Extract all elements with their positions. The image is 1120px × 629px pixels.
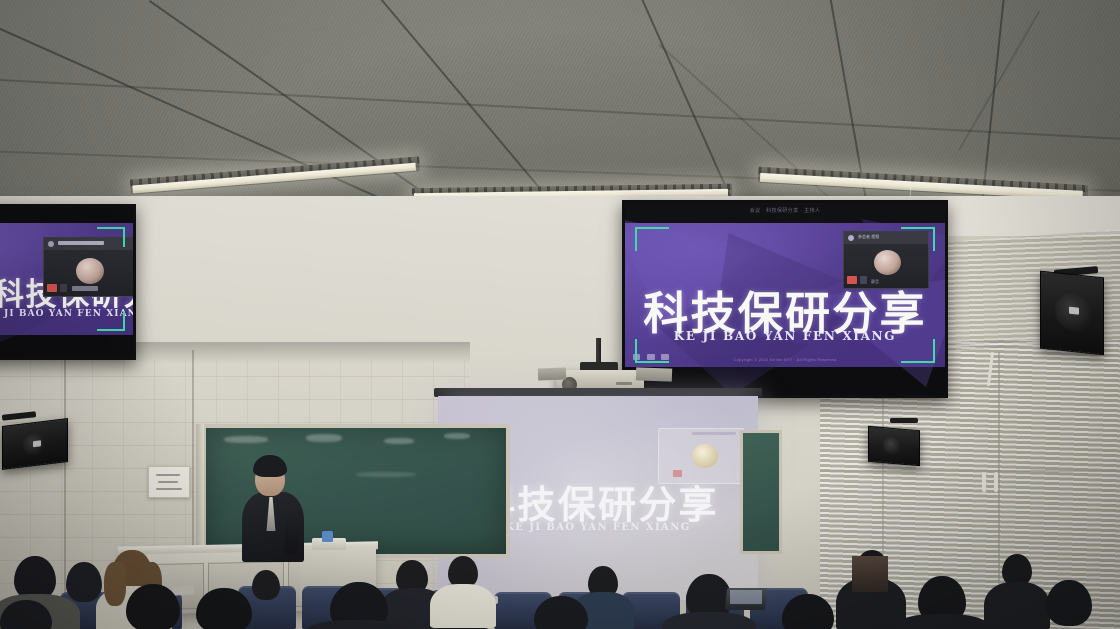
chair-writing-tablet[interactable] xyxy=(172,585,195,596)
pip-mute-label: 静音 xyxy=(871,279,879,285)
left-wall-speaker xyxy=(2,418,68,470)
left-tv-corner-bracket-br xyxy=(97,311,125,331)
left-tv-display[interactable]: 科技保研分享 KE JI BAO YAN FEN XIANG xyxy=(0,204,136,360)
right-wall-speaker-lower xyxy=(868,426,920,467)
speaker-badge xyxy=(1069,307,1079,315)
lecture-hall-screenshot: 科技保研分享 KE JI BAO YAN FEN XIANG 会议 · 科技保研… xyxy=(0,0,1120,629)
audience-head xyxy=(126,584,180,629)
pip-video-indicator[interactable] xyxy=(860,276,867,284)
right-tv-corner-bracket-tr xyxy=(901,227,935,251)
speaker-mount-arm xyxy=(890,418,918,423)
projection-pip-title-text xyxy=(692,432,736,435)
right-tv-slide-footer: Copyright © 2021 KeYan BYT · All Rights … xyxy=(625,357,945,362)
projector-label xyxy=(616,382,632,385)
audience-hair-long xyxy=(104,562,126,606)
audience-body xyxy=(894,614,990,629)
projector-mount-plate xyxy=(538,368,566,381)
speaker-cone xyxy=(883,436,901,456)
pip-caption xyxy=(72,286,98,291)
blackboard-left-edge xyxy=(196,424,204,552)
chalk-smudge xyxy=(306,434,342,442)
equipment-rack xyxy=(852,556,888,592)
cabinet-handle[interactable] xyxy=(994,472,998,492)
right-tv-corner-bracket-bl xyxy=(635,339,669,363)
projection-pip-avatar xyxy=(692,444,718,468)
right-wall-speaker-upper xyxy=(1040,271,1104,356)
right-tv-screen: 会议 · 科技保研分享 · 主持人 科技保研分享 KE JI BAO YAN F… xyxy=(625,203,945,395)
left-tv-corner-bracket-tr xyxy=(97,227,125,247)
audience-head xyxy=(252,570,280,600)
left-tv-screen: 科技保研分享 KE JI BAO YAN FEN XIANG xyxy=(0,207,133,357)
right-tv-status-text: 会议 · 科技保研分享 · 主持人 xyxy=(625,207,945,214)
pip-user-icon xyxy=(848,235,854,241)
audience-body-white-shirt xyxy=(430,584,496,628)
pip-video-indicator[interactable] xyxy=(60,284,67,292)
audience-head xyxy=(1046,580,1092,626)
presenter-hair xyxy=(253,455,287,477)
wall-seam xyxy=(64,352,66,600)
blackboard-right-section xyxy=(740,430,782,554)
sign-line xyxy=(156,474,180,476)
audience-head xyxy=(66,562,102,602)
laptop-screen-glow xyxy=(730,590,762,604)
chalk-smudge xyxy=(384,438,414,444)
right-tv-corner-bracket-tl xyxy=(635,227,669,251)
sign-line xyxy=(156,488,182,490)
speaker-badge xyxy=(33,440,41,447)
wall-panel-seam xyxy=(998,352,1000,602)
notice-sign xyxy=(148,466,190,498)
wall-panel-seam-h xyxy=(820,470,1120,472)
projection-pip-mute-indicator xyxy=(673,470,682,477)
pip-caller-name: 参会者 视频 xyxy=(858,234,879,240)
cabinet-handle[interactable] xyxy=(982,472,986,492)
right-tv-slide-pinyin: KE JI BAO YAN FEN XIANG xyxy=(625,329,945,343)
right-tv-corner-bracket-br xyxy=(901,339,935,363)
chalk-smudge xyxy=(224,436,268,443)
chalk-smudge xyxy=(444,433,470,439)
pip-avatar xyxy=(874,250,901,275)
projector-mount-plate xyxy=(636,367,672,381)
sign-line xyxy=(158,481,178,483)
audience-body xyxy=(662,612,756,629)
pip-mute-indicator[interactable] xyxy=(47,284,57,292)
chalk-smudge xyxy=(356,472,416,477)
audience-body xyxy=(984,582,1050,629)
pip-mute-indicator[interactable] xyxy=(847,276,857,284)
desk-item-bottle xyxy=(322,531,333,542)
pip-avatar xyxy=(76,258,104,284)
pip-user-icon xyxy=(48,241,54,247)
